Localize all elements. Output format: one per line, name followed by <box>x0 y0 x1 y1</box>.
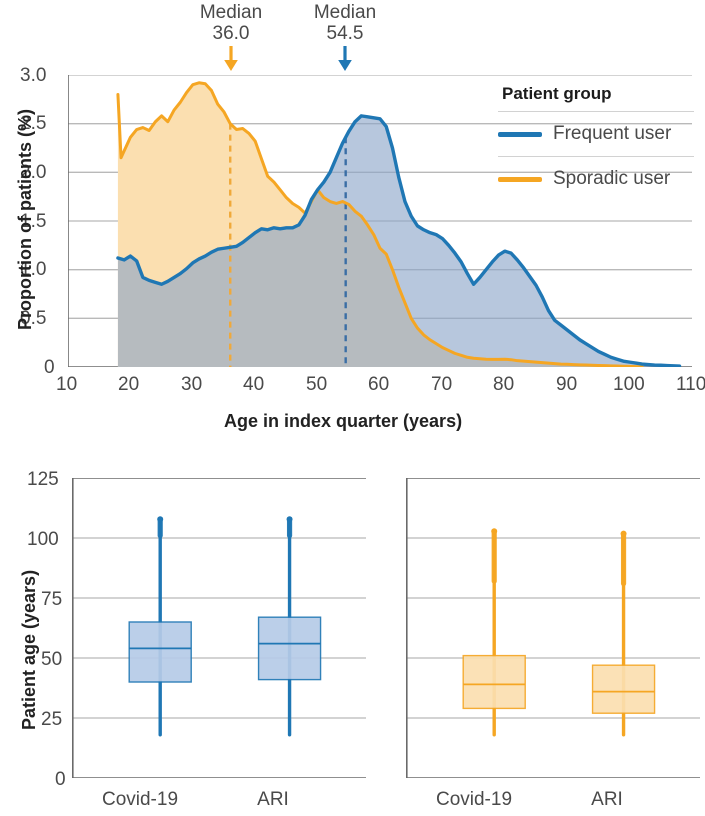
box-ytick-0: 0 <box>55 770 66 789</box>
boxplot-right-category-ari: ARI <box>567 790 647 809</box>
median-annotation-frequent-value: 54.5 <box>290 23 400 44</box>
density-xtick-70: 70 <box>431 375 452 394</box>
legend-item-sporadic-user[interactable]: Sporadic user <box>498 156 694 201</box>
legend-swatch-sporadic-user <box>498 177 542 182</box>
density-xtick-100: 100 <box>613 375 645 394</box>
density-xtick-50: 50 <box>306 375 327 394</box>
boxplot-svg-frequent-user <box>72 478 366 778</box>
legend-label-frequent-user: Frequent user <box>553 123 671 145</box>
median-annotation-sporadic: Median 36.0 <box>176 2 286 45</box>
density-y-axis-title: Proportion of patients (%) <box>16 109 34 330</box>
age-density-panel: Median 36.0 Median 54.5 3.0 2.5 2.0 1.5 … <box>0 0 705 450</box>
boxplot-panel-frequent-user <box>72 478 366 778</box>
density-xtick-20: 20 <box>118 375 139 394</box>
legend-item-frequent-user[interactable]: Frequent user <box>498 111 694 156</box>
boxplot-left-category-covid19: Covid-19 <box>85 790 195 809</box>
box-ytick-25: 25 <box>41 710 62 729</box>
median-annotation-frequent-label: Median <box>290 2 400 23</box>
figure-root: Median 36.0 Median 54.5 3.0 2.5 2.0 1.5 … <box>0 0 705 816</box>
density-legend: Patient group Frequent user Sporadic use… <box>498 84 694 201</box>
legend-title: Patient group <box>498 84 694 111</box>
median-arrow-frequent-icon <box>336 46 354 72</box>
density-xtick-60: 60 <box>368 375 389 394</box>
density-ytick-3.0: 3.0 <box>20 66 46 85</box>
median-annotation-frequent: Median 54.5 <box>290 2 400 45</box>
density-xtick-40: 40 <box>243 375 264 394</box>
box-y-axis-title: Patient age (years) <box>20 570 38 730</box>
boxplot-right-category-covid19: Covid-19 <box>419 790 529 809</box>
boxplot-svg-sporadic-user <box>406 478 700 778</box>
density-ytick-0: 0 <box>44 358 55 377</box>
box-ytick-100: 100 <box>27 530 59 549</box>
density-xtick-90: 90 <box>556 375 577 394</box>
box-ytick-75: 75 <box>41 590 62 609</box>
median-arrow-sporadic-icon <box>222 46 240 72</box>
legend-label-sporadic-user: Sporadic user <box>553 168 670 190</box>
density-xtick-10: 10 <box>56 375 77 394</box>
density-x-axis-title: Age in index quarter (years) <box>224 412 462 430</box>
median-annotation-sporadic-value: 36.0 <box>176 23 286 44</box>
legend-swatch-frequent-user <box>498 132 542 137</box>
age-boxplot-section: 125 100 75 50 25 0 Patient age (years) C… <box>0 450 705 816</box>
box-ytick-50: 50 <box>41 650 62 669</box>
density-xtick-80: 80 <box>493 375 514 394</box>
boxplot-left-category-ari: ARI <box>233 790 313 809</box>
boxplot-panel-sporadic-user <box>406 478 700 778</box>
median-annotation-sporadic-label: Median <box>176 2 286 23</box>
density-xtick-30: 30 <box>181 375 202 394</box>
density-xtick-110: 110 <box>676 375 705 394</box>
box-ytick-125: 125 <box>27 470 59 489</box>
